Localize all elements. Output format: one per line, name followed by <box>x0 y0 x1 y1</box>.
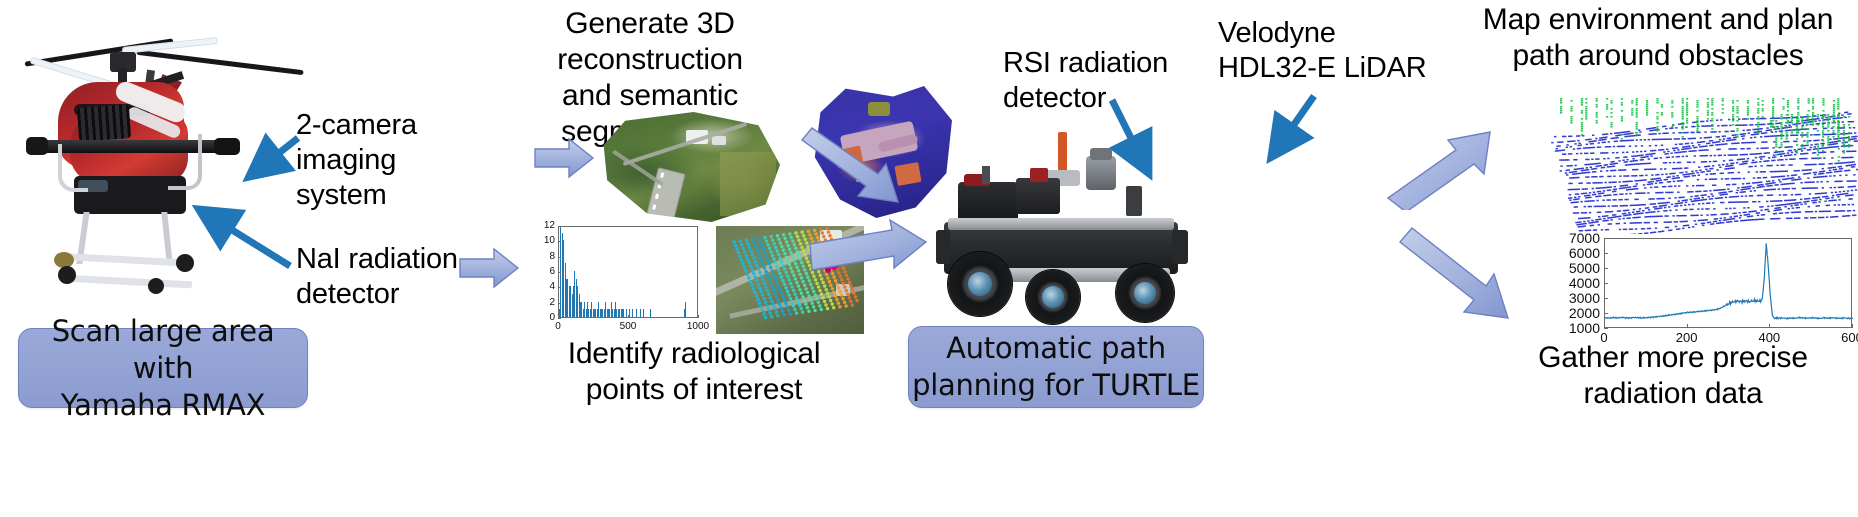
histogram-xtick: 0 <box>555 321 561 332</box>
caption-identify-points: Identify radiological points of interest <box>514 336 874 408</box>
histogram-bar <box>623 309 624 317</box>
figure-canvas: 2-camera imaging system NaI radiation de… <box>0 0 1858 517</box>
label-velodyne-lidar: Velodyne HDL32-E LiDAR <box>1218 16 1458 86</box>
trace-ytick: 3000 <box>1569 290 1600 306</box>
trace-ytick: 2000 <box>1569 305 1600 321</box>
callout-automatic-path-planning[interactable]: Automatic path planning for TURTLE <box>908 326 1204 408</box>
histogram-bar <box>643 309 644 317</box>
pointer-arrow-lidar <box>1256 92 1326 170</box>
histogram-ytick: 6 <box>549 266 555 277</box>
histogram-bar <box>636 309 637 317</box>
flow-arrow-to-reconstruction <box>533 136 595 180</box>
label-rsi-detector: RSI radiation detector <box>1003 46 1203 116</box>
chart-radiation-count-trace: 1000200030004000500060007000 0200400600 <box>1538 234 1858 350</box>
callout-scan-large-area[interactable]: Scan large area with Yamaha RMAX <box>18 328 308 408</box>
histogram-bar <box>685 302 686 317</box>
flow-arrow-merge-top <box>800 122 930 208</box>
flow-arrow-to-map <box>1386 120 1506 210</box>
trace-ytick: 4000 <box>1569 275 1600 291</box>
trace-line <box>1605 243 1853 319</box>
callout-scan-large-area-text: Scan large area with Yamaha RMAX <box>19 313 307 424</box>
trace-ytick: 7000 <box>1569 230 1600 246</box>
turtle-rover-photo <box>930 130 1210 330</box>
trace-ytick: 6000 <box>1569 245 1600 261</box>
histogram-ytick: 4 <box>549 281 555 292</box>
flow-arrow-merge-bottom <box>806 216 942 282</box>
label-camera-system: 2-camera imaging system <box>296 108 456 213</box>
trace-ytick: 5000 <box>1569 260 1600 276</box>
histogram-ytick: 12 <box>544 220 555 231</box>
flow-arrow-to-trace <box>1398 222 1524 326</box>
histogram-bar <box>629 309 630 317</box>
image-lidar-point-cloud <box>1520 84 1858 246</box>
histogram-ytick: 8 <box>549 251 555 262</box>
callout-automatic-path-planning-text: Automatic path planning for TURTLE <box>912 330 1200 404</box>
histogram-bar <box>632 309 633 317</box>
histogram-bar <box>650 309 651 317</box>
flow-arrow-to-histogram <box>458 246 520 290</box>
pointer-arrow-nai-detector <box>190 196 296 272</box>
histogram-ytick: 0 <box>549 312 555 323</box>
histogram-ytick: 2 <box>549 297 555 308</box>
histogram-ytick: 10 <box>544 235 555 246</box>
histogram-bar <box>640 309 641 317</box>
histogram-xtick: 500 <box>620 321 637 332</box>
heading-map-environment: Map environment and plan path around obs… <box>1462 2 1854 74</box>
pointer-arrow-camera <box>240 134 302 186</box>
histogram-xtick: 1000 <box>687 321 709 332</box>
image-3d-reconstruction <box>600 112 780 222</box>
trace-ytick: 1000 <box>1569 320 1600 336</box>
caption-gather-precise-data: Gather more precise radiation data <box>1488 340 1858 412</box>
chart-radiological-histogram: 024681012 05001000 <box>524 222 704 340</box>
